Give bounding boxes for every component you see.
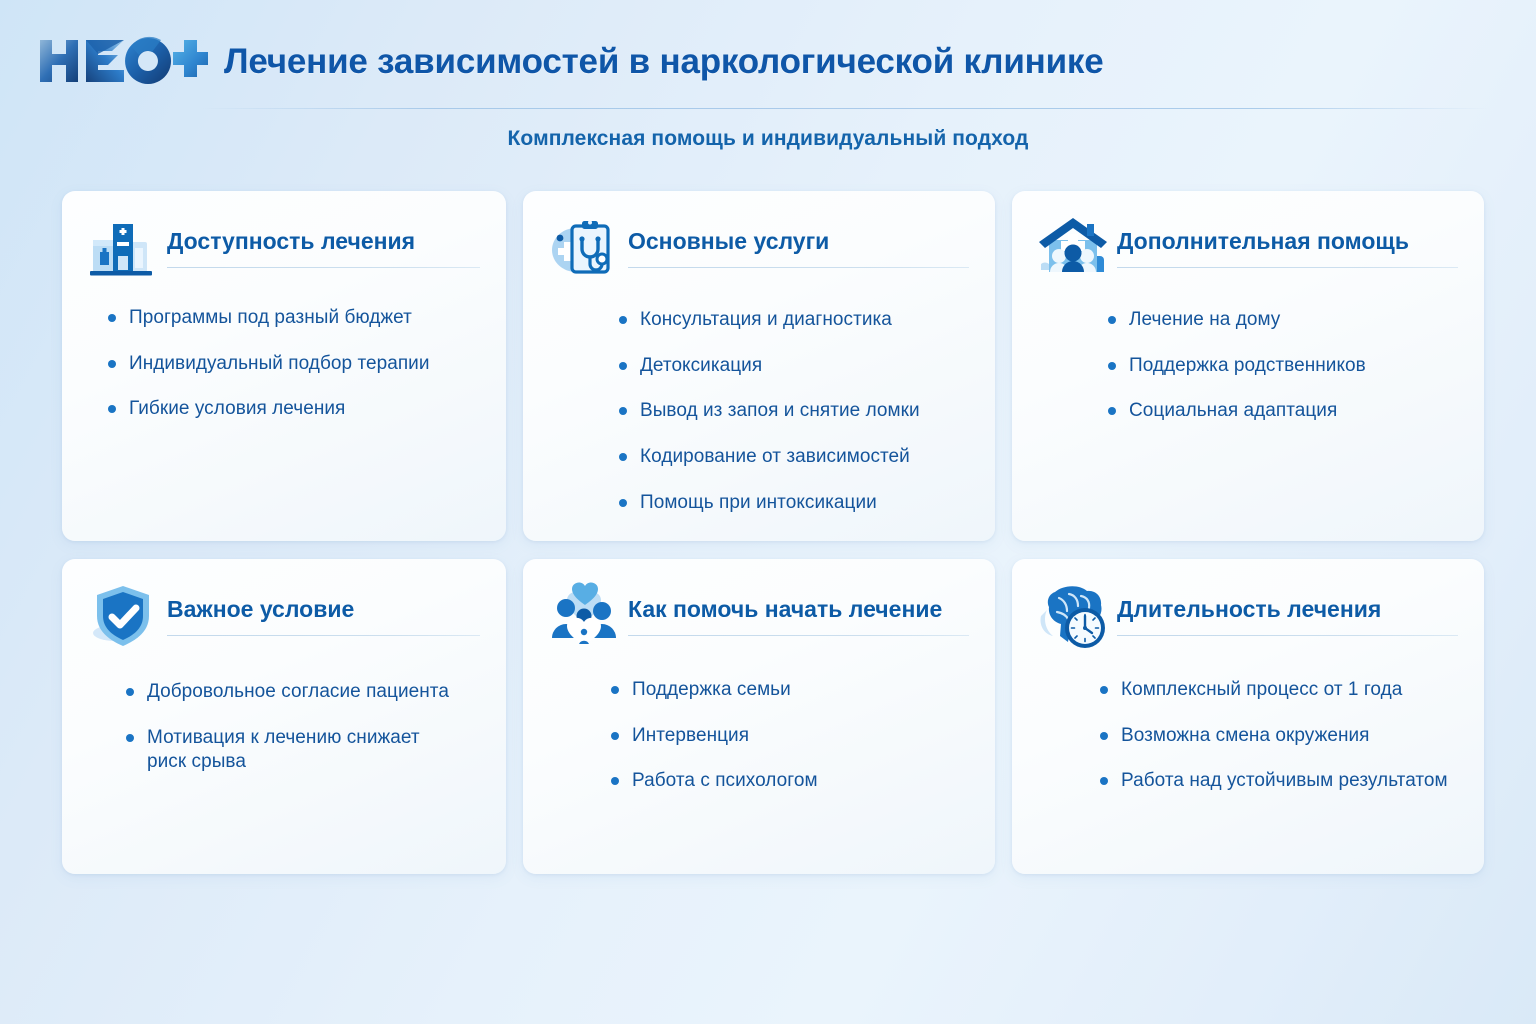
bullet-dot-icon: [611, 686, 619, 694]
bullet-text: Кодирование от зависимостей: [640, 445, 910, 470]
bullet-text: Гибкие условия лечения: [129, 397, 345, 422]
list-item: Лечение на дому: [1108, 308, 1462, 333]
clipboard-stethoscope-icon: [546, 212, 622, 284]
bullet-dot-icon: [108, 405, 116, 413]
header-divider: [200, 108, 1490, 109]
card-title-divider: [1117, 267, 1458, 268]
bullet-dot-icon: [611, 777, 619, 785]
list-item: Интервенция: [611, 724, 973, 749]
list-item: Индивидуальный подбор терапии: [108, 352, 484, 377]
bullet-dot-icon: [619, 316, 627, 324]
bullet-text: Комплексный процесс от 1 года: [1121, 678, 1402, 703]
list-item: Гибкие условия лечения: [108, 397, 484, 422]
list-item: Работа с психологом: [611, 769, 973, 794]
shield-check-icon: [85, 580, 161, 652]
card-main-services[interactable]: Основные услуги Консультация и диагности…: [523, 191, 995, 541]
bullet-text: Помощь при интоксикации: [640, 491, 877, 516]
card-important-condition[interactable]: Важное условие Добровольное согласие пац…: [62, 559, 506, 874]
card-title-divider: [1117, 635, 1458, 636]
card-title-divider: [628, 267, 969, 268]
card-header-text: Доступность лечения: [167, 212, 480, 268]
card-header: Важное условие: [62, 559, 506, 652]
card-header-text: Как помочь начать лечение: [628, 580, 969, 636]
card-title-divider: [167, 267, 480, 268]
list-item: Мотивация к лечению снижает риск срыва: [126, 726, 484, 775]
bullet-dot-icon: [108, 360, 116, 368]
bullet-text: Консультация и диагностика: [640, 308, 892, 333]
card-bullet-list: Добровольное согласие пациента Мотивация…: [62, 680, 506, 775]
list-item: Поддержка родственников: [1108, 354, 1462, 379]
bullet-dot-icon: [611, 732, 619, 740]
family-heart-icon: [546, 580, 622, 652]
bullet-text: Поддержка семьи: [632, 678, 791, 703]
card-header-text: Длительность лечения: [1117, 580, 1458, 636]
bullet-text: Работа над устойчивым результатом: [1121, 769, 1448, 794]
list-item: Социальная адаптация: [1108, 399, 1462, 424]
bullet-dot-icon: [619, 362, 627, 370]
bullet-dot-icon: [108, 314, 116, 322]
list-item: Помощь при интоксикации: [619, 491, 973, 516]
bullet-text: Добровольное согласие пациента: [147, 680, 449, 705]
bullet-text: Лечение на дому: [1129, 308, 1280, 333]
card-title: Доступность лечения: [167, 228, 480, 254]
cards-grid: Доступность лечения Программы под разный…: [62, 191, 1474, 874]
card-header: Дополнительная помощь: [1012, 191, 1484, 284]
card-title-divider: [628, 635, 969, 636]
brain-clock-icon: [1035, 580, 1111, 652]
bullet-dot-icon: [1108, 316, 1116, 324]
hospital-building-icon: [85, 212, 161, 284]
bullet-dot-icon: [1108, 362, 1116, 370]
bullet-dot-icon: [1100, 777, 1108, 785]
list-item: Программы под разный бюджет: [108, 306, 484, 331]
bullet-dot-icon: [1100, 686, 1108, 694]
page-subtitle: Комплексная помощь и индивидуальный подх…: [0, 127, 1536, 151]
card-header: Доступность лечения: [62, 191, 506, 284]
bullet-text: Индивидуальный подбор терапии: [129, 352, 430, 377]
card-title: Основные услуги: [628, 228, 969, 254]
bullet-dot-icon: [619, 407, 627, 415]
bullet-text: Интервенция: [632, 724, 749, 749]
bullet-dot-icon: [619, 453, 627, 461]
card-header: Основные услуги: [523, 191, 995, 284]
card-header-text: Дополнительная помощь: [1117, 212, 1458, 268]
list-item: Детоксикация: [619, 354, 973, 379]
list-item: Работа над устойчивым результатом: [1100, 769, 1462, 794]
list-item: Поддержка семьи: [611, 678, 973, 703]
card-title: Как помочь начать лечение: [628, 596, 969, 622]
card-treatment-duration[interactable]: Длительность лечения Комплексный процесс…: [1012, 559, 1484, 874]
card-title-divider: [167, 635, 480, 636]
page-header: Лечение зависимостей в наркологической к…: [0, 0, 1536, 170]
bullet-dot-icon: [126, 688, 134, 696]
card-additional-help[interactable]: Дополнительная помощь Лечение на дому По…: [1012, 191, 1484, 541]
list-item: Комплексный процесс от 1 года: [1100, 678, 1462, 703]
card-header-text: Основные услуги: [628, 212, 969, 268]
list-item: Возможна смена окружения: [1100, 724, 1462, 749]
card-bullet-list: Консультация и диагностика Детоксикация …: [523, 308, 995, 515]
card-bullet-list: Программы под разный бюджет Индивидуальн…: [62, 306, 506, 422]
bullet-text: Работа с психологом: [632, 769, 818, 794]
bullet-dot-icon: [619, 499, 627, 507]
bullet-text: Вывод из запоя и снятие ломки: [640, 399, 920, 424]
card-title: Дополнительная помощь: [1117, 228, 1458, 254]
home-family-care-icon: [1035, 212, 1111, 284]
list-item: Кодирование от зависимостей: [619, 445, 973, 470]
bullet-dot-icon: [126, 734, 134, 742]
card-availability[interactable]: Доступность лечения Программы под разный…: [62, 191, 506, 541]
bullet-text: Социальная адаптация: [1129, 399, 1337, 424]
bullet-text: Детоксикация: [640, 354, 762, 379]
list-item: Консультация и диагностика: [619, 308, 973, 333]
card-bullet-list: Лечение на дому Поддержка родственников …: [1012, 308, 1484, 424]
bullet-dot-icon: [1108, 407, 1116, 415]
card-header: Как помочь начать лечение: [523, 559, 995, 652]
card-how-to-start[interactable]: Как помочь начать лечение Поддержка семь…: [523, 559, 995, 874]
list-item: Добровольное согласие пациента: [126, 680, 484, 705]
bullet-text: Мотивация к лечению снижает риск срыва: [147, 726, 447, 775]
card-header: Длительность лечения: [1012, 559, 1484, 652]
card-bullet-list: Поддержка семьи Интервенция Работа с пси…: [523, 678, 995, 794]
bullet-dot-icon: [1100, 732, 1108, 740]
card-header-text: Важное условие: [167, 580, 480, 636]
bullet-text: Поддержка родственников: [1129, 354, 1366, 379]
card-title: Длительность лечения: [1117, 596, 1458, 622]
list-item: Вывод из запоя и снятие ломки: [619, 399, 973, 424]
card-title: Важное условие: [167, 596, 480, 622]
header-brand-row: Лечение зависимостей в наркологической к…: [36, 32, 1104, 90]
card-bullet-list: Комплексный процесс от 1 года Возможна с…: [1012, 678, 1484, 794]
neo-plus-logo-icon: [36, 32, 208, 90]
page-title: Лечение зависимостей в наркологической к…: [224, 44, 1104, 79]
bullet-text: Возможна смена окружения: [1121, 724, 1370, 749]
bullet-text: Программы под разный бюджет: [129, 306, 412, 331]
